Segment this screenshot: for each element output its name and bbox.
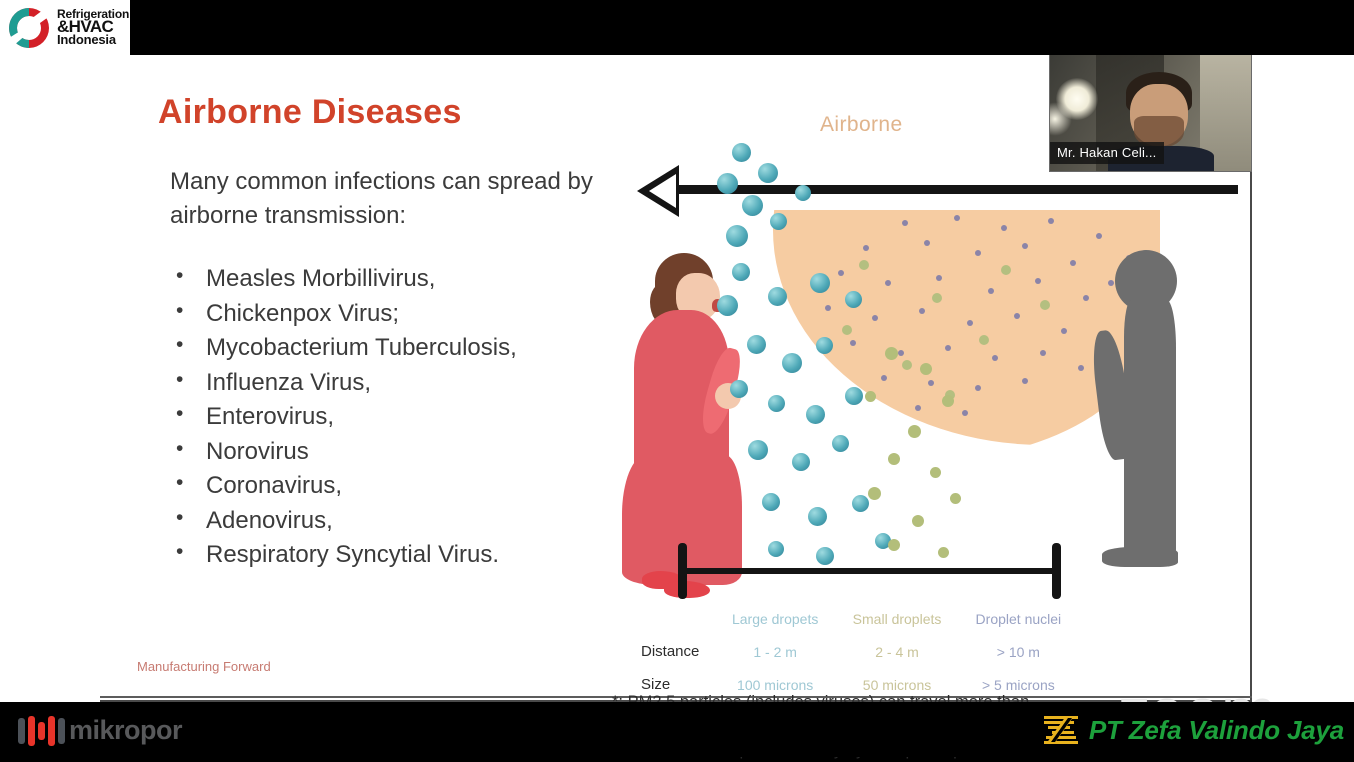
mikropor-wordmark: mikropor [69,715,182,746]
zefa-logo: PT Zefa Valindo Jaya [1042,714,1344,746]
participant-name-label: Mr. Hakan Celi... [1050,142,1164,164]
droplet-comparison-table: Large dropets Small droplets Droplet nuc… [615,603,1255,701]
cell-distance-nuclei: > 10 m [959,635,1078,668]
woman-shoe-right [664,581,710,598]
column-header-large-droplets: Large dropets [715,603,835,635]
list-item: Mycobacterium Tuberculosis, [170,331,690,366]
airborne-arrow-head-inner [649,174,676,208]
aerosol-plume-dots [730,210,1160,460]
list-item: Measles Morbillivirus, [170,262,690,297]
list-item: Chickenpox Virus; [170,297,690,332]
mikropor-logo: mikropor [18,715,182,746]
table-corner-blank [623,603,715,635]
refrigeration-hvac-swirl-icon [3,4,55,52]
event-logo: Refrigeration &HVAC Indonesia [0,0,130,55]
event-logo-line3: Indonesia [57,34,129,46]
airborne-arrow-label: Airborne [820,113,903,137]
slide-intro-text: Many common infections can spread by air… [170,165,670,233]
slide-tagline: Manufacturing Forward [137,659,271,674]
table-header-row: Large dropets Small droplets Droplet nuc… [623,603,1078,635]
participant-video-tile[interactable]: Mr. Hakan Celi... [1049,53,1252,172]
bracket-cap-right [1052,543,1061,599]
receiver-feet [1102,547,1178,567]
list-item: Influenza Virus, [170,366,690,401]
distance-bracket [680,568,1060,574]
bottom-black-bar: mikropor PT Zefa Valindo Jaya [0,702,1354,757]
table-row: Distance 1 - 2 m 2 - 4 m > 10 m [623,635,1078,668]
cell-distance-small: 2 - 4 m [835,635,958,668]
airborne-arrow-line [668,185,1238,194]
cell-distance-large: 1 - 2 m [715,635,835,668]
mikropor-bars-icon [18,716,65,746]
airborne-transmission-illustration: zoom Airborne [620,95,1260,695]
list-item: Enterovirus, [170,400,690,435]
page-title: Airborne Diseases [158,93,462,132]
list-item: Adenovirus, [170,504,690,539]
list-item: Respiratory Syncytial Virus. [170,538,690,573]
column-header-droplet-nuclei: Droplet nuclei [959,603,1078,635]
zefa-wordmark: PT Zefa Valindo Jaya [1089,715,1344,746]
top-black-bar: Refrigeration &HVAC Indonesia [0,0,1354,55]
list-item: Norovirus [170,435,690,470]
disease-bullet-list: Measles Morbillivirus, Chickenpox Virus;… [170,262,690,573]
zefa-z-icon [1042,714,1080,746]
receiver-body [1124,300,1176,565]
column-header-small-droplets: Small droplets [835,603,958,635]
row-label-distance: Distance [623,635,715,668]
list-item: Coronavirus, [170,469,690,504]
